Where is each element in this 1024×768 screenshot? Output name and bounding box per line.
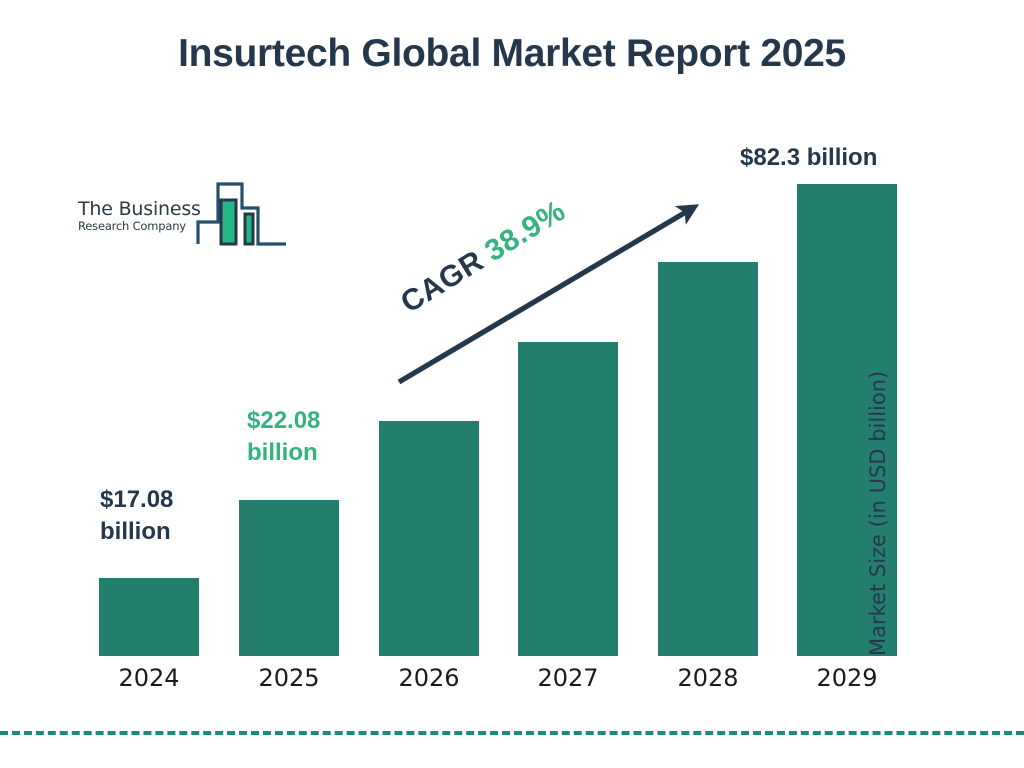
bar-2024 xyxy=(99,578,199,656)
xtick-2027: 2027 xyxy=(518,664,618,692)
value-label-2025: $22.08 billion xyxy=(247,405,320,468)
bar-2026 xyxy=(379,421,479,656)
xtick-2024: 2024 xyxy=(99,664,199,692)
cagr-word: CAGR xyxy=(395,244,489,319)
cagr-annotation: CAGR 38.9% xyxy=(395,194,572,320)
bar-2027 xyxy=(518,342,618,656)
cagr-value: 38.9% xyxy=(479,194,571,268)
y-axis-label: Market Size (in USD billion) xyxy=(866,0,900,326)
xtick-2028: 2028 xyxy=(658,664,758,692)
bar-2025 xyxy=(239,500,339,656)
footer-divider xyxy=(0,731,1024,735)
xtick-2025: 2025 xyxy=(239,664,339,692)
xtick-2029: 2029 xyxy=(797,664,897,692)
value-label-2024: $17.08 billion xyxy=(100,484,173,547)
bar-2028 xyxy=(658,262,758,656)
chart-page: Insurtech Global Market Report 2025 The … xyxy=(0,0,1024,768)
value-label-2029: $82.3 billion xyxy=(740,142,877,174)
xtick-2026: 2026 xyxy=(379,664,479,692)
y-axis-label-text: Market Size (in USD billion) xyxy=(866,326,890,656)
bar-chart-plot-area: 2024 2025 2026 2027 2028 2029 $17.08 bil… xyxy=(0,0,1024,768)
